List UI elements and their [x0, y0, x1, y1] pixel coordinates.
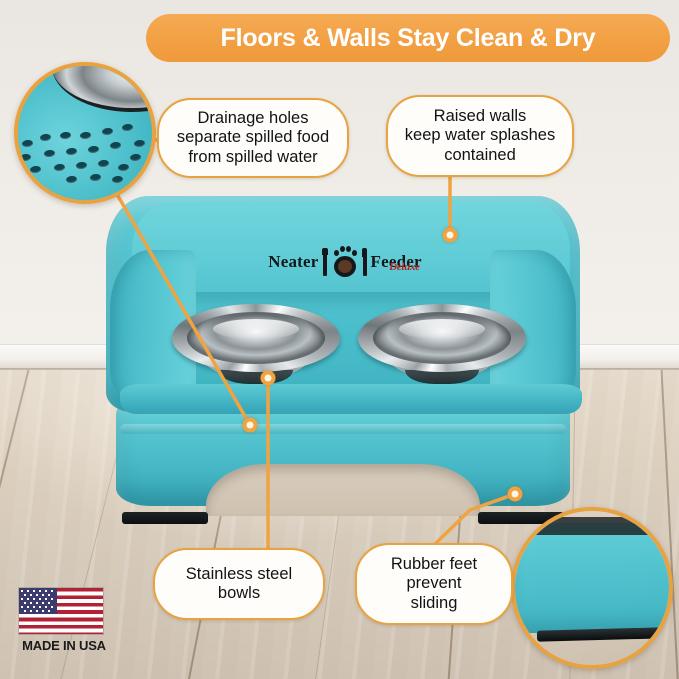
paw-print-icon [333, 246, 357, 278]
feeder-tray: Neater Feeder Deluxe [106, 196, 580, 412]
us-flag-icon [18, 587, 104, 635]
product-infographic: Neater Feeder Deluxe [0, 0, 679, 679]
callout-text: Rubber feet prevent sliding [391, 555, 477, 612]
inset-drainage-holes [14, 62, 156, 204]
inset-leg-top-shadow [523, 517, 669, 535]
flag-stars [19, 588, 57, 614]
made-in-usa-label: MADE IN USA [18, 638, 110, 653]
logo-deluxe-text: Deluxe [389, 261, 420, 273]
stainless-bowl-right [358, 304, 526, 386]
rubber-foot-left [122, 512, 208, 524]
callout-text: Drainage holes separate spilled food fro… [177, 109, 329, 166]
base-arch-cutout [206, 464, 480, 516]
base-seam [120, 424, 566, 434]
callout-stainless-bowls: Stainless steel bowls [153, 548, 325, 620]
callout-drainage-holes: Drainage holes separate spilled food fro… [157, 98, 349, 178]
callout-text: Stainless steel bowls [186, 565, 292, 603]
paw-fork-knife-icon [322, 245, 368, 279]
knife-icon [363, 251, 367, 276]
fork-icon [323, 251, 327, 276]
callout-text: Raised walls keep water splashes contain… [405, 107, 555, 164]
leader-dot-feet [508, 487, 523, 502]
banner-title: Floors & Walls Stay Clean & Dry [221, 24, 596, 53]
inset-rubber-foot [511, 507, 673, 669]
callout-rubber-feet: Rubber feet prevent sliding [355, 543, 513, 625]
tray-front-lip [120, 384, 582, 414]
logo-text-left: Neater [268, 252, 318, 272]
leader-dot-walls [443, 228, 458, 243]
callout-raised-walls: Raised walls keep water splashes contain… [386, 95, 574, 177]
made-in-usa-badge: MADE IN USA [18, 587, 110, 653]
product-logo: Neater Feeder Deluxe [256, 242, 434, 282]
leader-dot-drainage [243, 418, 258, 433]
flag-canton [19, 588, 57, 614]
stainless-bowl-left [172, 304, 340, 386]
inset-feeder-leg [511, 523, 673, 633]
header-banner: Floors & Walls Stay Clean & Dry [146, 14, 670, 62]
leader-dot-bowls [261, 371, 276, 386]
neater-feeder-product: Neater Feeder Deluxe [98, 196, 588, 526]
